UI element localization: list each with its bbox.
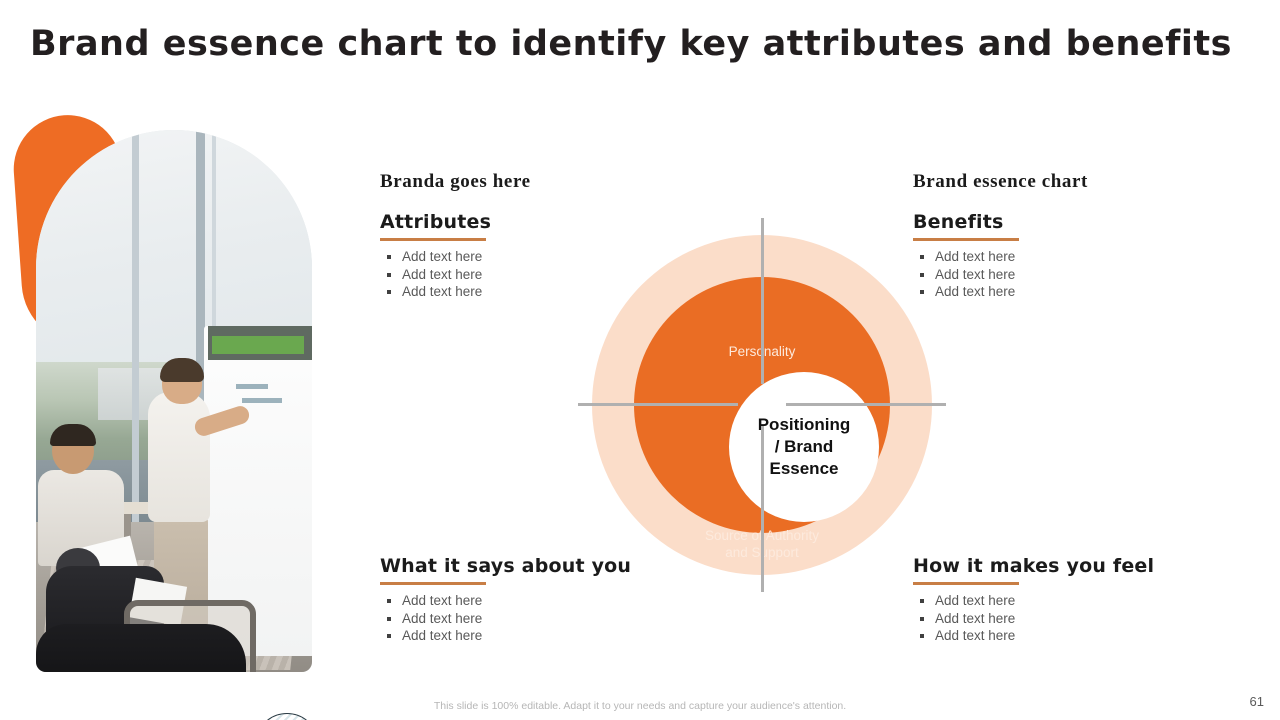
right-brand-label: Brand essence chart	[913, 171, 1088, 193]
quadrant-rule	[380, 238, 486, 241]
photo-foreground-figure	[36, 624, 246, 672]
core-label-line-2: / Brand	[758, 436, 851, 458]
photo-presenter-hair	[160, 358, 204, 382]
list-item[interactable]: Add text here	[913, 283, 1173, 301]
list-item[interactable]: Add text here	[380, 592, 640, 610]
list-item[interactable]: Add text here	[913, 266, 1173, 284]
photo-window-mullion	[132, 130, 139, 550]
quadrant-how-it-makes-you-feel: How it makes you feel Add text here Add …	[913, 555, 1173, 645]
divider-line-horizontal-right	[786, 403, 946, 406]
quadrant-list: Add text here Add text here Add text her…	[913, 248, 1173, 301]
quadrant-title: How it makes you feel	[913, 555, 1173, 577]
slide: Brand essence chart to identify key attr…	[0, 0, 1280, 720]
quadrant-list: Add text here Add text here Add text her…	[380, 592, 640, 645]
left-brand-label: Branda goes here	[380, 171, 531, 193]
photo-attendee-hair	[50, 424, 96, 446]
divider-line-vertical-top	[761, 218, 764, 384]
list-item[interactable]: Add text here	[380, 610, 640, 628]
workshop-photo	[36, 130, 312, 672]
list-item[interactable]: Add text here	[913, 627, 1173, 645]
quadrant-benefits: Benefits Add text here Add text here Add…	[913, 211, 1173, 301]
quadrant-title: Benefits	[913, 211, 1173, 233]
divider-line-horizontal-left	[578, 403, 738, 406]
quadrant-list: Add text here Add text here Add text her…	[913, 592, 1173, 645]
core-label-line-1: Positioning	[758, 414, 851, 436]
list-item[interactable]: Add text here	[913, 248, 1173, 266]
core-label-line-3: Essence	[758, 458, 851, 480]
page-title: Brand essence chart to identify key attr…	[30, 24, 1210, 64]
list-item[interactable]: Add text here	[380, 627, 640, 645]
core-label: Positioning / Brand Essence	[758, 414, 851, 480]
photo-flipchart-green-band	[212, 336, 304, 354]
footer-note: This slide is 100% editable. Adapt it to…	[0, 700, 1280, 712]
photo-zone	[12, 112, 312, 672]
hatched-circle-decoration	[255, 713, 319, 720]
donut-core[interactable]: Positioning / Brand Essence	[729, 372, 879, 522]
page-number: 61	[1250, 694, 1264, 709]
photo-presenter-torso	[148, 392, 210, 522]
list-item[interactable]: Add text here	[913, 610, 1173, 628]
quadrant-title: Attributes	[380, 211, 640, 233]
quadrant-rule	[380, 582, 486, 585]
list-item[interactable]: Add text here	[913, 592, 1173, 610]
quadrant-rule	[913, 582, 1019, 585]
divider-line-vertical-bottom	[761, 426, 764, 592]
